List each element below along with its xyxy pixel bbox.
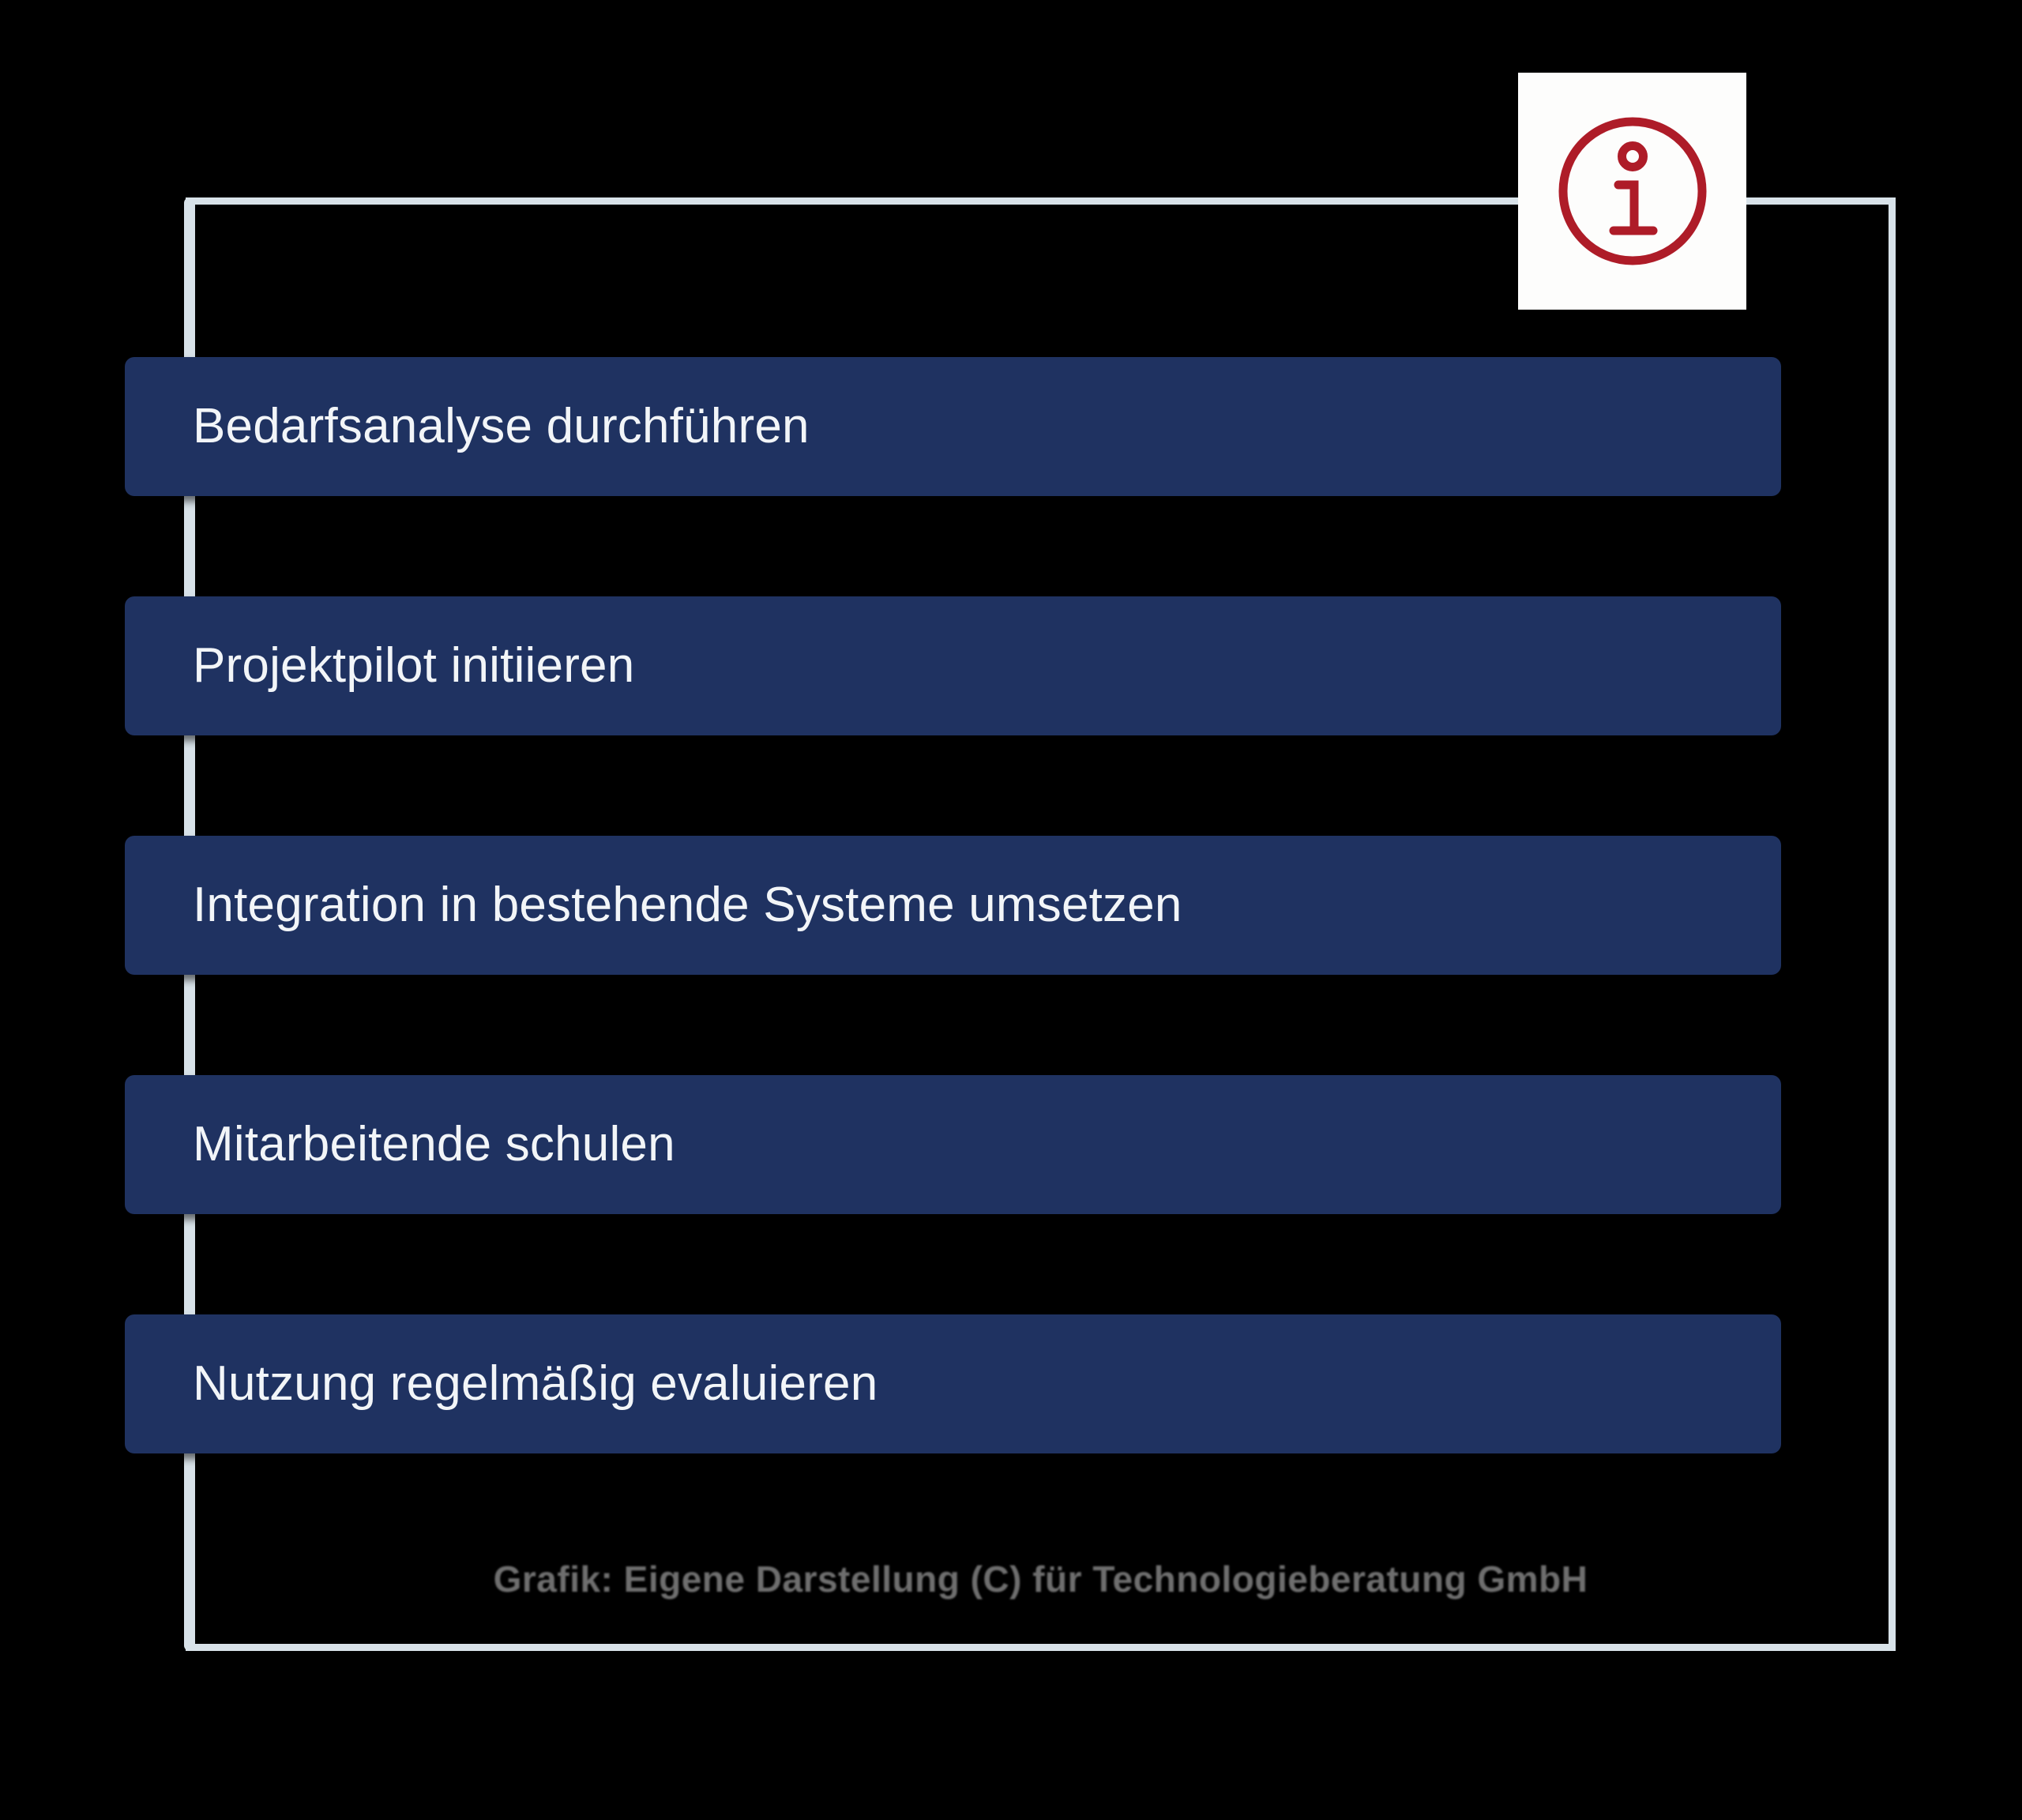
process-step-label: Bedarfsanalyse durchführen [193, 400, 810, 453]
info-circle-icon [1554, 112, 1712, 270]
process-step-bar[interactable]: Nutzung regelmäßig evaluieren [125, 1314, 1781, 1453]
source-caption: Grafik: Eigene Darstellung (C) für Techn… [186, 1558, 1896, 1600]
process-step-label: Projektpilot initiieren [193, 639, 634, 693]
process-step-bar[interactable]: Projektpilot initiieren [125, 596, 1781, 735]
infographic-canvas: Bedarfsanalyse durchführenProjektpilot i… [0, 0, 2022, 1820]
process-step-bar[interactable]: Bedarfsanalyse durchführen [125, 357, 1781, 496]
process-step-bar[interactable]: Mitarbeitende schulen [125, 1075, 1781, 1214]
process-step-label: Mitarbeitende schulen [193, 1118, 675, 1171]
process-step-label: Integration in bestehende Systeme umsetz… [193, 878, 1182, 932]
info-badge[interactable] [1518, 73, 1746, 310]
process-step-bar[interactable]: Integration in bestehende Systeme umsetz… [125, 836, 1781, 975]
process-step-label: Nutzung regelmäßig evaluieren [193, 1357, 878, 1411]
